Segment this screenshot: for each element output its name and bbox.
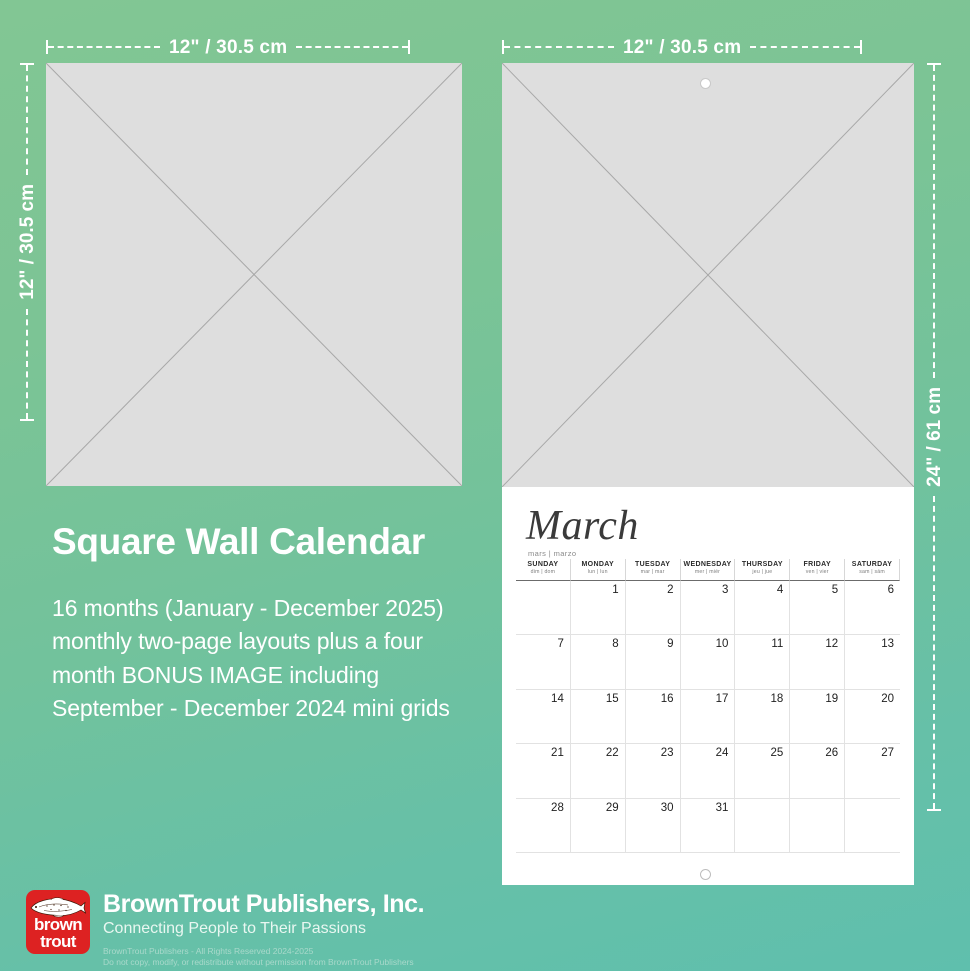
dimension-cap-bottom xyxy=(20,419,34,421)
day-number: 10 xyxy=(716,638,729,650)
day-number: 12 xyxy=(825,638,838,650)
legal-notice: BrownTrout Publishers - All Rights Reser… xyxy=(103,946,424,969)
day-name: MONDAY xyxy=(581,561,614,569)
day-number: 15 xyxy=(606,693,619,705)
day-name-translations: ven | vier xyxy=(806,569,829,575)
dimension-right-panel-height: 24" / 61 cm xyxy=(925,63,943,885)
day-number: 17 xyxy=(716,693,729,705)
calendar-day-cell[interactable]: 9 xyxy=(626,635,681,689)
dimension-right-panel-width: 12" / 30.5 cm xyxy=(502,38,914,56)
logo-word-trout: trout xyxy=(26,934,90,951)
calendar-header-friday: FRIDAY ven | vier xyxy=(790,559,845,581)
day-name-translations: mar | mar xyxy=(641,569,665,575)
day-name: SATURDAY xyxy=(852,561,893,569)
description-line-4: September - December 2024 mini grids xyxy=(52,692,502,725)
calendar-header-monday: MONDAY lun | lun xyxy=(571,559,626,581)
calendar-day-cell[interactable]: 28 xyxy=(516,799,571,853)
dimension-dash-left xyxy=(504,46,614,48)
product-listing-page: 12" / 30.5 cm 12" / 30.5 cm 12" / 30.5 c… xyxy=(0,0,970,971)
calendar-day-cell[interactable]: 17 xyxy=(681,690,736,744)
calendar-day-cell[interactable]: 4 xyxy=(735,581,790,635)
dimension-label-right-panel-height: 24" / 61 cm xyxy=(925,378,944,496)
description-line-2: monthly two-page layouts plus a four xyxy=(52,625,502,658)
dimension-dash-top xyxy=(26,65,28,175)
day-number: 16 xyxy=(661,693,674,705)
calendar-header-thursday: THURSDAY jeu | jue xyxy=(735,559,790,581)
calendar-grid-page: March mars | marzo SUNDAY dim | dom MOND… xyxy=(502,487,914,885)
legal-line-1: BrownTrout Publishers - All Rights Reser… xyxy=(103,946,424,957)
dimension-dash-bottom xyxy=(26,309,28,419)
placeholder-cross-icon xyxy=(502,63,914,487)
description-line-1: 16 months (January - December 2025) xyxy=(52,592,502,625)
day-number: 18 xyxy=(770,693,783,705)
day-number: 1 xyxy=(612,584,618,596)
day-number: 21 xyxy=(551,747,564,759)
page-title: Square Wall Calendar xyxy=(52,523,425,562)
day-number: 31 xyxy=(716,802,729,814)
calendar-day-cell[interactable]: 27 xyxy=(845,744,900,798)
calendar-day-cell[interactable]: 31 xyxy=(681,799,736,853)
calendar-day-cell[interactable]: 24 xyxy=(681,744,736,798)
calendar-day-cell[interactable]: 30 xyxy=(626,799,681,853)
calendar-day-cell[interactable] xyxy=(845,799,900,853)
day-number: 13 xyxy=(881,638,894,650)
day-number: 22 xyxy=(606,747,619,759)
calendar-day-cell[interactable]: 25 xyxy=(735,744,790,798)
dimension-dash-right xyxy=(750,46,860,48)
day-number: 25 xyxy=(770,747,783,759)
day-name: TUESDAY xyxy=(635,561,670,569)
calendar-day-cell[interactable]: 15 xyxy=(571,690,626,744)
calendar-day-cell[interactable] xyxy=(735,799,790,853)
day-name: WEDNESDAY xyxy=(683,561,731,569)
description-line-3: month BONUS IMAGE including xyxy=(52,659,502,692)
calendar-month-title: March xyxy=(526,505,639,547)
day-number: 30 xyxy=(661,802,674,814)
hole-punch-right-panel-top xyxy=(700,78,711,89)
day-number: 14 xyxy=(551,693,564,705)
calendar-day-cell[interactable] xyxy=(516,581,571,635)
logo-wordmark: brown trout xyxy=(26,917,90,950)
dimension-dash-right xyxy=(296,46,408,48)
day-name-translations: sam | sám xyxy=(859,569,885,575)
day-name-translations: dim | dom xyxy=(531,569,555,575)
calendar-day-cell[interactable]: 14 xyxy=(516,690,571,744)
calendar-day-cell[interactable]: 13 xyxy=(845,635,900,689)
calendar-day-cell[interactable]: 2 xyxy=(626,581,681,635)
day-number: 9 xyxy=(667,638,673,650)
dimension-cap-end xyxy=(408,40,410,54)
calendar-header-sunday: SUNDAY dim | dom xyxy=(516,559,571,581)
day-number: 23 xyxy=(661,747,674,759)
day-number: 19 xyxy=(825,693,838,705)
footer-text-block: BrownTrout Publishers, Inc. Connecting P… xyxy=(103,890,424,969)
footer: brown trout BrownTrout Publishers, Inc. … xyxy=(26,890,424,969)
day-number: 7 xyxy=(557,638,563,650)
dimension-label-left-panel-width: 12" / 30.5 cm xyxy=(160,38,296,57)
day-number: 28 xyxy=(551,802,564,814)
calendar-day-cell[interactable]: 23 xyxy=(626,744,681,798)
day-name: SUNDAY xyxy=(527,561,558,569)
brand-tagline: Connecting People to Their Passions xyxy=(103,918,424,940)
placeholder-cross-icon xyxy=(46,63,462,486)
dimension-dash-left xyxy=(48,46,160,48)
right-panel-image-placeholder xyxy=(502,63,914,487)
hole-punch-right-panel-bottom xyxy=(700,869,711,880)
dimension-left-panel-height: 12" / 30.5 cm xyxy=(18,63,36,486)
calendar-day-cell[interactable]: 22 xyxy=(571,744,626,798)
day-name: FRIDAY xyxy=(803,561,831,569)
day-number: 8 xyxy=(612,638,618,650)
calendar-day-cell[interactable]: 5 xyxy=(790,581,845,635)
day-number: 24 xyxy=(716,747,729,759)
day-name-translations: lun | lun xyxy=(588,569,608,575)
calendar-header-wednesday: WEDNESDAY mer | miér xyxy=(681,559,736,581)
product-description: 16 months (January - December 2025) mont… xyxy=(52,592,502,725)
dimension-cap-bottom xyxy=(927,809,941,811)
calendar-day-cell[interactable]: 10 xyxy=(681,635,736,689)
day-number: 5 xyxy=(832,584,838,596)
brand-name: BrownTrout Publishers, Inc. xyxy=(103,891,424,917)
calendar-header-tuesday: TUESDAY mar | mar xyxy=(626,559,681,581)
calendar-day-cell[interactable]: 7 xyxy=(516,635,571,689)
day-name-translations: mer | miér xyxy=(695,569,720,575)
calendar-day-cell[interactable]: 21 xyxy=(516,744,571,798)
day-number: 4 xyxy=(777,584,783,596)
dimension-dash-bottom xyxy=(933,496,935,809)
dimension-label-right-panel-width: 12" / 30.5 cm xyxy=(614,38,750,57)
calendar-day-cell[interactable]: 8 xyxy=(571,635,626,689)
day-number: 6 xyxy=(888,584,894,596)
calendar-day-cell[interactable]: 29 xyxy=(571,799,626,853)
day-number: 20 xyxy=(881,693,894,705)
calendar-day-cell[interactable] xyxy=(790,799,845,853)
dimension-label-left-panel-height: 12" / 30.5 cm xyxy=(18,175,37,309)
calendar-day-cell[interactable]: 12 xyxy=(790,635,845,689)
calendar-header-saturday: SATURDAY sam | sám xyxy=(845,559,900,581)
dimension-cap-end xyxy=(860,40,862,54)
day-number: 26 xyxy=(825,747,838,759)
calendar-day-cell[interactable]: 19 xyxy=(790,690,845,744)
day-number: 11 xyxy=(771,638,783,650)
calendar-day-cell[interactable]: 26 xyxy=(790,744,845,798)
calendar-day-cell[interactable]: 20 xyxy=(845,690,900,744)
day-number: 29 xyxy=(606,802,619,814)
calendar-day-cell[interactable]: 6 xyxy=(845,581,900,635)
day-number: 27 xyxy=(881,747,894,759)
day-number: 2 xyxy=(667,584,673,596)
calendar-day-cell[interactable]: 1 xyxy=(571,581,626,635)
legal-line-2: Do not copy, modify, or redistribute wit… xyxy=(103,957,424,968)
day-name: THURSDAY xyxy=(742,561,783,569)
day-name-translations: jeu | jue xyxy=(752,569,772,575)
calendar-month-translations: mars | marzo xyxy=(528,549,576,558)
left-panel-image-placeholder xyxy=(46,63,462,486)
day-number: 3 xyxy=(722,584,728,596)
browntrout-logo[interactable]: brown trout xyxy=(26,890,90,954)
calendar-day-cell[interactable]: 18 xyxy=(735,690,790,744)
calendar-days-grid: SUNDAY dim | dom MONDAY lun | lun TUESDA… xyxy=(516,559,900,853)
calendar-day-cell[interactable]: 3 xyxy=(681,581,736,635)
calendar-day-cell[interactable]: 16 xyxy=(626,690,681,744)
calendar-day-cell[interactable]: 11 xyxy=(735,635,790,689)
dimension-left-panel-width: 12" / 30.5 cm xyxy=(46,38,462,56)
dimension-dash-top xyxy=(933,65,935,378)
